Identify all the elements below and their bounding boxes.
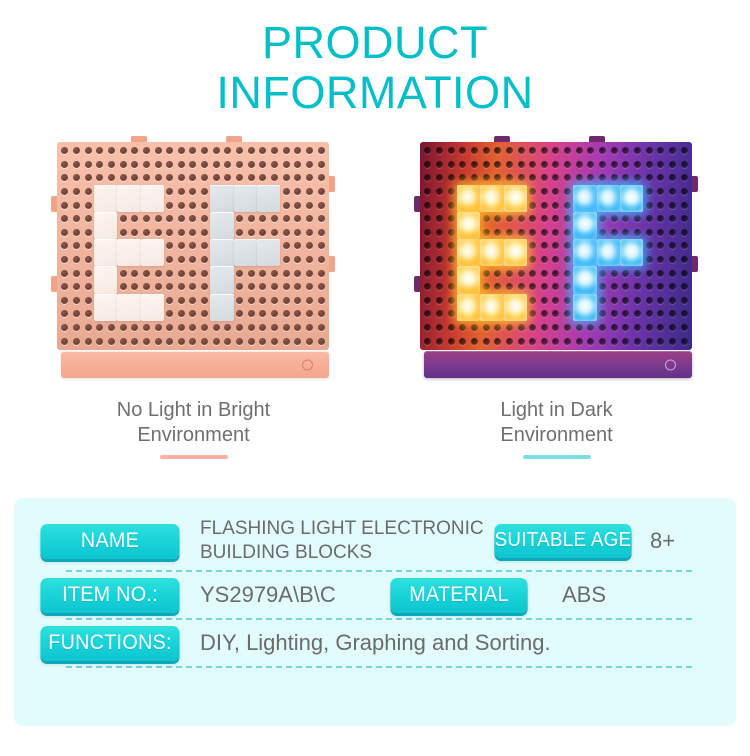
letter-block-f: [573, 239, 596, 266]
letter-block-f: [573, 212, 596, 239]
letter-block-f: [210, 294, 233, 321]
letter-block-e: [480, 185, 503, 212]
power-button-icon[interactable]: [302, 359, 313, 370]
letter-block-e: [94, 294, 117, 321]
letter-block-f: [210, 266, 233, 293]
letter-block-e: [94, 239, 117, 266]
letter-block-f: [573, 185, 596, 212]
photo-caption-dark: Light in Dark Environment: [500, 398, 612, 448]
caption-line-1: No Light in Bright: [117, 398, 270, 423]
letter-block-e: [480, 294, 503, 321]
pegboard-surface: [57, 142, 329, 350]
caption-underline: [160, 455, 228, 459]
letter-block-e: [457, 239, 480, 266]
letter-block-f: [210, 185, 233, 212]
board-base: [61, 351, 329, 378]
spec-value-functions: DIY, Lighting, Graphing and Sorting.: [200, 631, 551, 655]
letter-block-f: [234, 185, 257, 212]
spec-value-material: ABS: [562, 583, 606, 607]
letter-block-f: [257, 185, 280, 212]
spec-label-functions: FUNCTIONS:: [40, 626, 179, 661]
product-photo-bright: No Light in Bright Environment: [51, 136, 336, 459]
spec-row-item-no: ITEM NO.: YS2979A\B\C MATERIAL ABS: [36, 572, 714, 618]
spec-value-suitable-age: 8+: [650, 529, 675, 553]
letter-block-e: [94, 185, 117, 212]
letter-block-e: [457, 212, 480, 239]
page-title-line-2: INFORMATION: [0, 68, 750, 118]
spec-label-item-no: ITEM NO.:: [40, 578, 179, 613]
letter-block-e: [141, 239, 164, 266]
letter-block-e: [457, 185, 480, 212]
letter-block-e: [457, 266, 480, 293]
product-photo-dark: Light in Dark Environment: [414, 136, 699, 459]
letter-block-e: [141, 294, 164, 321]
letter-block-e: [94, 212, 117, 239]
photo-caption-bright: No Light in Bright Environment: [117, 398, 270, 448]
spec-label-name: NAME: [40, 524, 179, 559]
letter-block-f: [597, 185, 620, 212]
letter-block-e: [457, 294, 480, 321]
letter-block-f: [257, 239, 280, 266]
letter-block-e: [504, 239, 527, 266]
letter-block-f: [573, 266, 596, 293]
letter-block-f: [210, 239, 233, 266]
building-block-board-bright: [51, 136, 336, 386]
spec-value-name: FLASHING LIGHT ELECTRONIC BUILDING BLOCK…: [200, 517, 490, 565]
letter-block-f: [620, 185, 643, 212]
letter-block-f: [210, 212, 233, 239]
building-block-board-dark: [414, 136, 699, 386]
spec-label-material: MATERIAL: [390, 578, 527, 613]
letter-block-f: [597, 239, 620, 266]
letter-blocks-layer: [420, 142, 692, 350]
letter-block-e: [504, 185, 527, 212]
power-button-icon[interactable]: [665, 359, 676, 370]
board-base: [424, 351, 692, 378]
letter-block-e: [117, 294, 140, 321]
caption-line-2: Environment: [117, 423, 270, 448]
specification-panel: NAME FLASHING LIGHT ELECTRONIC BUILDING …: [14, 498, 736, 726]
spec-divider: [66, 666, 692, 668]
letter-block-e: [480, 239, 503, 266]
page-title-line-1: PRODUCT: [0, 18, 750, 68]
caption-line-2: Environment: [500, 423, 612, 448]
page-title: PRODUCT INFORMATION: [0, 0, 750, 118]
spec-row-functions: FUNCTIONS: DIY, Lighting, Graphing and S…: [36, 620, 714, 666]
letter-block-f: [573, 294, 596, 321]
letter-block-e: [117, 185, 140, 212]
pegboard-surface: [420, 142, 692, 350]
letter-block-f: [620, 239, 643, 266]
spec-label-suitable-age: SUITABLE AGE: [494, 524, 631, 558]
spec-value-item-no: YS2979A\B\C: [200, 583, 386, 607]
product-photo-gallery: No Light in Bright Environment Light in …: [0, 136, 750, 459]
letter-block-e: [141, 185, 164, 212]
spec-row-name: NAME FLASHING LIGHT ELECTRONIC BUILDING …: [36, 512, 714, 570]
letter-block-e: [94, 266, 117, 293]
caption-line-1: Light in Dark: [500, 398, 612, 423]
letter-blocks-layer: [57, 142, 329, 350]
letter-block-f: [234, 239, 257, 266]
letter-block-e: [504, 294, 527, 321]
caption-underline: [523, 455, 591, 459]
letter-block-e: [117, 239, 140, 266]
